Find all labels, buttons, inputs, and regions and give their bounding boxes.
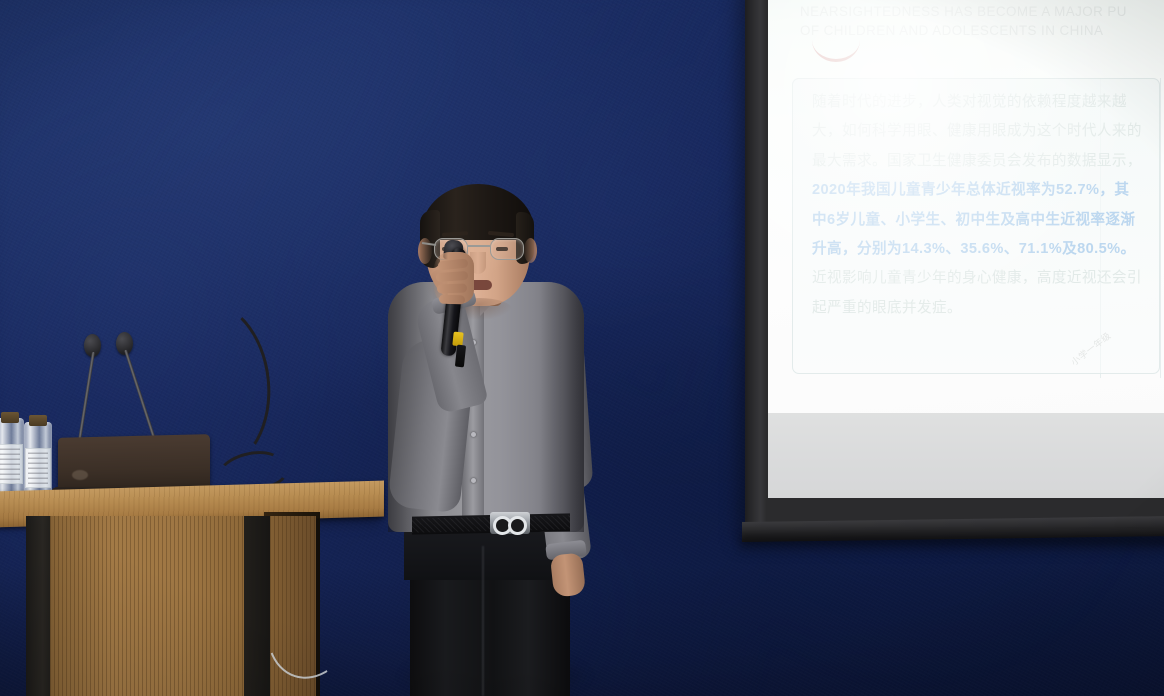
slide-body-part2: 近视影响儿童青少年的身心健康，高度近视还会引起严重的眼底并发症。 xyxy=(812,270,1142,315)
slide-body-text: 随着时代的进步，人类对视觉的依赖程度越来越大，如何科学用眼、健康用眼成为这个时代… xyxy=(812,88,1142,323)
screen-bar-shadow xyxy=(740,536,1164,552)
water-bottle-label-2 xyxy=(25,448,51,488)
laptop-logo xyxy=(72,470,88,480)
slide-body-highlight: 2020年我国儿童青少年总体近视率为52.7%，其中6岁儿童、小学生、初中生及高… xyxy=(812,182,1135,257)
podium-leg-left xyxy=(26,516,50,696)
slide-body-part1: 随着时代的进步，人类对视觉的依赖程度越来越大，如何科学用眼、健康用眼成为这个时代… xyxy=(812,94,1142,169)
speaker-right-ear xyxy=(524,238,537,263)
water-bottle-cap-1 xyxy=(1,412,19,423)
lecture-photo-scene: 近视已成为危害我国儿童青少年眼健 NEARSIGHTEDNESS HAS BEC… xyxy=(0,0,1164,696)
water-bottle-label-1 xyxy=(0,444,23,484)
eyeglass-lens-right xyxy=(490,238,524,260)
speaker-trouser-crease xyxy=(482,546,484,696)
shirt-button-3 xyxy=(471,432,476,437)
podium-leg-right xyxy=(244,516,270,696)
finger-ring xyxy=(437,283,467,293)
slide-footer-band xyxy=(768,413,1164,498)
water-bottle-cap-2 xyxy=(29,415,47,426)
speaker-left-hand xyxy=(550,552,586,597)
smile-arc-decoration xyxy=(812,40,860,62)
shirt-button-4 xyxy=(471,478,476,483)
speaker-torso-shading-right xyxy=(540,282,584,532)
speaker-person xyxy=(330,190,630,696)
projected-presentation-slide: 近视已成为危害我国儿童青少年眼健 NEARSIGHTEDNESS HAS BEC… xyxy=(768,0,1164,498)
slide-subtitle-english: NEARSIGHTEDNESS HAS BECOME A MAJOR PU OF… xyxy=(800,2,1164,40)
finger-pinky xyxy=(439,295,465,305)
speaker-belt-buckle xyxy=(490,512,530,534)
eyeglass-bridge xyxy=(468,245,490,247)
slide-column-divider-2 xyxy=(1160,78,1161,378)
